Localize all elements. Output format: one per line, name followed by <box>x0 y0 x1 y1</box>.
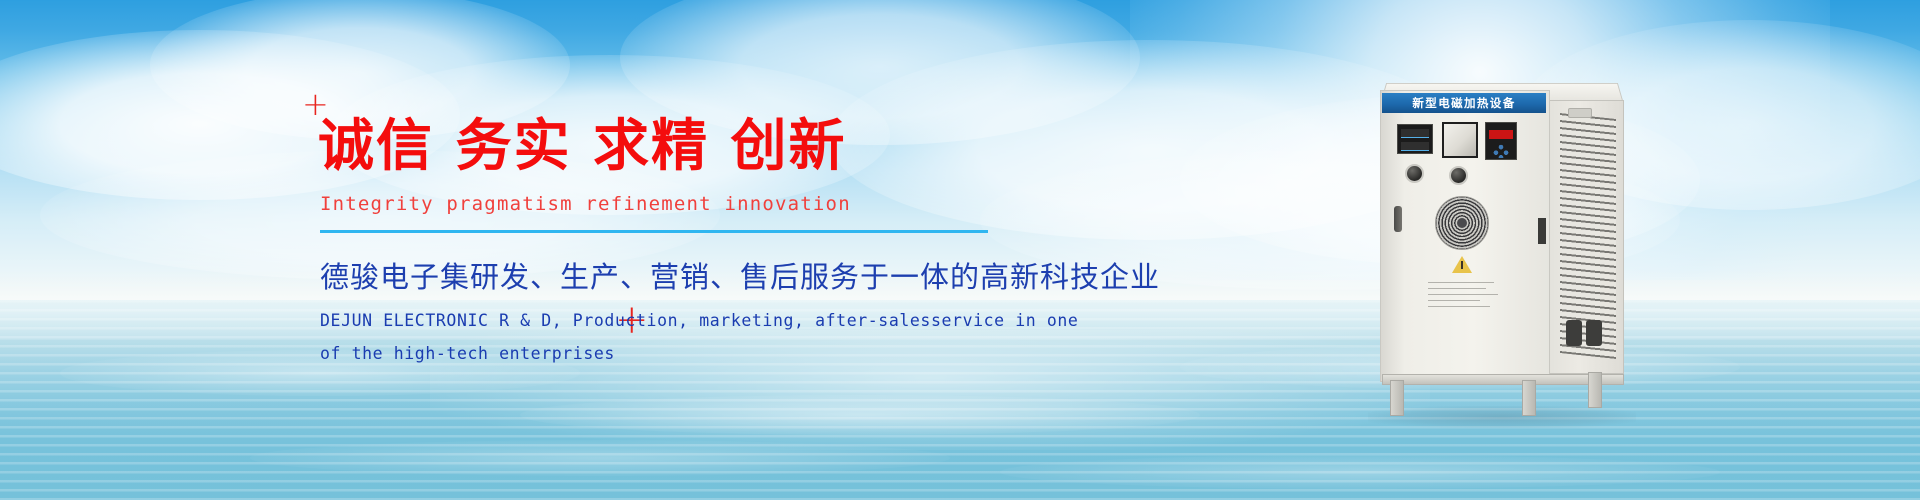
machine-shadow <box>1368 406 1636 428</box>
subheadline-english: DEJUN ELECTRONIC R & D, Production, mark… <box>320 304 1038 370</box>
digital-display-icon <box>1397 124 1433 154</box>
sea-wave <box>250 440 950 476</box>
promo-banner: + + 诚信 务实 求精 创新 Integrity pragmatism ref… <box>0 0 1920 500</box>
divider-line <box>320 230 988 233</box>
machine-brand-label: 新型电磁加热设备 <box>1382 93 1546 113</box>
machine-top-vent-icon <box>1568 108 1592 118</box>
subheadline-chinese: 德骏电子集研发、生产、营销、售后服务于一体的高新科技企业 <box>320 254 1038 296</box>
subheadline-english-line1: DEJUN ELECTRONIC R & D, Production, mark… <box>320 304 1038 337</box>
sea-wave <box>1000 455 1720 489</box>
machine-leg <box>1522 380 1536 416</box>
machine-leg <box>1588 372 1602 408</box>
spec-plate <box>1428 282 1500 320</box>
warning-triangle-icon <box>1452 256 1472 273</box>
headline-english: Integrity pragmatism refinement innovati… <box>320 193 1038 215</box>
banner-text-block: 诚信 务实 求精 创新 Integrity pragmatism refinem… <box>318 86 1038 370</box>
analog-gauge-icon <box>1442 122 1478 158</box>
cooling-fan-icon <box>1435 196 1489 250</box>
headline-chinese: 诚信 务实 求精 创新 <box>318 116 1038 179</box>
side-latch-icon <box>1538 218 1546 244</box>
connector-slot-icon <box>1586 320 1602 346</box>
sea-wave <box>520 395 1200 435</box>
control-knob-icon <box>1449 166 1468 185</box>
keypad-display-icon <box>1485 122 1517 160</box>
connector-slot-icon <box>1566 320 1582 346</box>
door-handle-icon <box>1394 206 1402 232</box>
control-knob-icon <box>1405 164 1424 183</box>
machine-leg <box>1390 380 1404 416</box>
product-image-heating-machine: 新型电磁加热设备 <box>1372 68 1672 428</box>
subheadline-english-line2: of the high-tech enterprises <box>320 337 1038 370</box>
